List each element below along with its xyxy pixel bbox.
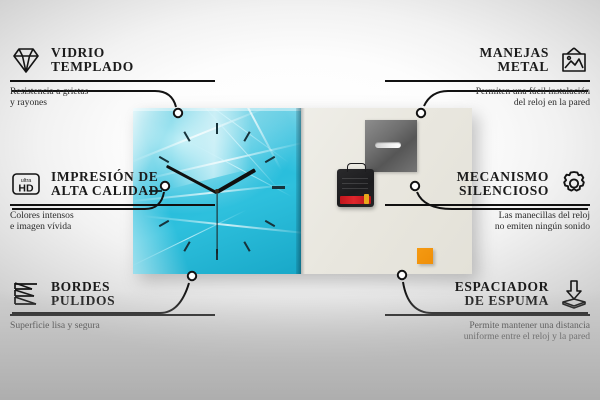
diagonal-stripes-icon <box>10 278 42 310</box>
feature-description: Colores intensos e imagen vívida <box>10 210 215 233</box>
mechanism-detail <box>342 183 368 184</box>
feature-high-quality-print: ultra HD IMPRESIÓN DE ALTA CALIDAD Color… <box>10 168 215 233</box>
divider <box>385 80 590 82</box>
feature-description: Permiten una fácil instalación del reloj… <box>385 86 590 109</box>
feature-title: BORDES PULIDOS <box>51 280 115 309</box>
feature-title: MANEJAS METAL <box>480 46 549 75</box>
infographic-canvas: VIDRIO TEMPLADO Resistencia a grietas y … <box>0 0 600 400</box>
arrow-down-pad-icon <box>558 278 590 310</box>
feature-polished-edges: BORDES PULIDOS Superficie lisa y segura <box>10 278 215 331</box>
feature-title: ESPACIADOR DE ESPUMA <box>455 280 549 309</box>
gear-icon <box>558 168 590 200</box>
diamond-icon <box>10 44 42 76</box>
feature-title: MECANISMO SILENCIOSO <box>457 170 549 199</box>
feature-silent-mechanism: MECANISMO SILENCIOSO Las manecillas del … <box>385 168 590 233</box>
bracket-slot <box>375 142 401 148</box>
feature-description: Permite mantener una distancia uniforme … <box>385 320 590 343</box>
mechanism-detail <box>342 178 368 179</box>
metal-hanger-bracket <box>365 120 417 172</box>
divider <box>10 80 215 82</box>
divider <box>10 314 215 316</box>
clock-tick <box>243 241 250 252</box>
feature-description: Las manecillas del reloj no emiten ningú… <box>385 210 590 233</box>
divider <box>385 314 590 316</box>
mechanism-detail <box>342 188 368 189</box>
battery <box>340 196 371 204</box>
back-left-edge <box>301 108 305 274</box>
divider <box>10 204 215 206</box>
picture-frame-icon <box>558 44 590 76</box>
clock-tick <box>183 241 190 252</box>
clock-second-hand <box>216 192 217 254</box>
quartz-mechanism <box>337 169 374 207</box>
clock-center-cap <box>215 189 219 193</box>
feature-description: Superficie lisa y segura <box>10 320 215 332</box>
divider <box>385 204 590 206</box>
clock-tick <box>216 123 218 134</box>
ultra-hd-large-text: HD <box>18 182 34 194</box>
feature-description: Resistencia a grietas y rayones <box>10 86 215 109</box>
feature-foam-spacer: ESPACIADOR DE ESPUMA Permite mantener un… <box>385 278 590 343</box>
feature-tempered-glass: VIDRIO TEMPLADO Resistencia a grietas y … <box>10 44 215 109</box>
ultra-hd-icon: ultra HD <box>10 168 42 200</box>
clock-tick <box>272 186 285 189</box>
mechanism-hanger-loop <box>347 163 366 172</box>
feature-title: VIDRIO TEMPLADO <box>51 46 134 75</box>
foam-spacer <box>417 248 433 264</box>
feature-title: IMPRESIÓN DE ALTA CALIDAD <box>51 170 159 199</box>
clock-tick <box>265 220 276 227</box>
feature-metal-hooks: MANEJAS METAL Permiten una fácil instala… <box>385 44 590 109</box>
